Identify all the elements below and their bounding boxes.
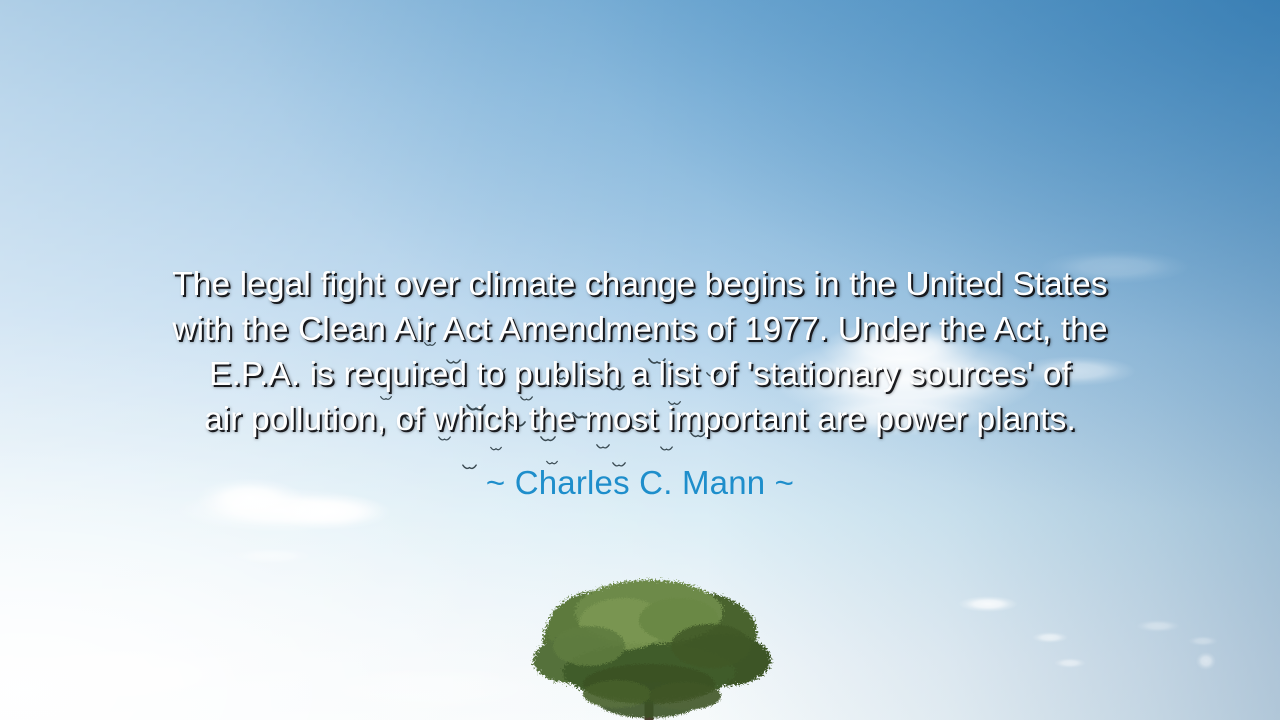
quote-line: air pollution, of which the most importa… [56,397,1224,442]
quote-image: The legal fight over climate change begi… [0,0,1280,720]
quote-line: The legal fight over climate change begi… [56,262,1224,307]
quote-line: E.P.A. is required to publish a list of … [56,352,1224,397]
quote-author: ~ Charles C. Mann ~ [56,463,1224,503]
quote-block: The legal fight over climate change begi… [0,262,1280,503]
quote-line: with the Clean Air Act Amendments of 197… [56,307,1224,352]
